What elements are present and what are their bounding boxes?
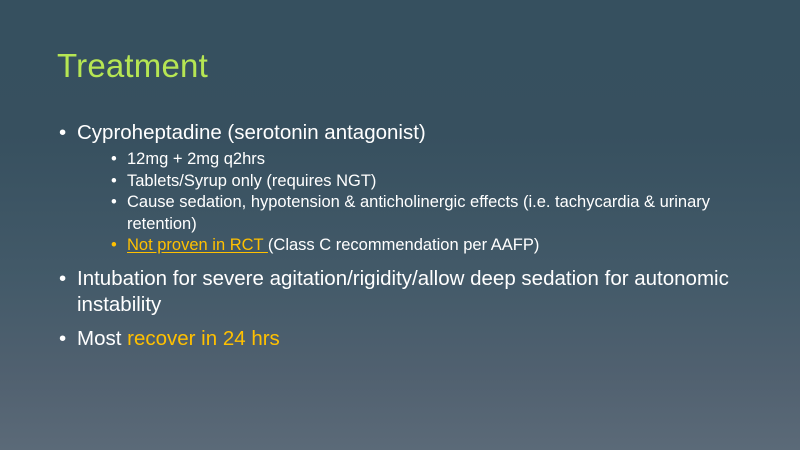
bullet-marker-icon: • bbox=[111, 149, 117, 171]
bullet-marker-icon: • bbox=[59, 266, 66, 292]
evidence-link[interactable]: Not proven in RCT bbox=[127, 236, 268, 254]
list-item-label: 12mg + 2mg q2hrs bbox=[127, 150, 265, 168]
bullet-marker-icon: • bbox=[59, 326, 66, 352]
bullet-list-level-1: • Cyproheptadine (serotonin antagonist) … bbox=[57, 120, 757, 352]
list-item-label: (Class C recommendation per AAFP) bbox=[268, 236, 539, 254]
bullet-marker-icon: • bbox=[59, 120, 66, 146]
list-item-intubation: • Intubation for severe agitation/rigidi… bbox=[57, 266, 757, 318]
bullet-marker-icon: • bbox=[111, 235, 117, 257]
list-item-label: Intubation for severe agitation/rigidity… bbox=[77, 267, 729, 316]
bullet-marker-icon: • bbox=[111, 171, 117, 193]
page-title: Treatment bbox=[57, 46, 208, 86]
list-item-dosing: • 12mg + 2mg q2hrs bbox=[110, 149, 757, 171]
list-item-label: Cause sedation, hypotension & anticholin… bbox=[127, 193, 710, 233]
list-item-evidence: • Not proven in RCT (Class C recommendat… bbox=[110, 235, 757, 257]
list-item-label: Cyproheptadine (serotonin antagonist) bbox=[77, 121, 426, 144]
recovery-highlight: recover in 24 hrs bbox=[127, 327, 280, 350]
list-item-label: Tablets/Syrup only (requires NGT) bbox=[127, 172, 376, 190]
bullet-marker-icon: • bbox=[111, 192, 117, 214]
slide-body: • Cyproheptadine (serotonin antagonist) … bbox=[57, 120, 757, 353]
list-item-label: Most bbox=[77, 327, 127, 350]
slide: Treatment • Cyproheptadine (serotonin an… bbox=[0, 0, 800, 450]
list-item-recovery: • Most recover in 24 hrs bbox=[57, 326, 757, 352]
list-item-cyproheptadine: • Cyproheptadine (serotonin antagonist) … bbox=[57, 120, 757, 257]
bullet-list-level-2: • 12mg + 2mg q2hrs • Tablets/Syrup only … bbox=[110, 149, 757, 257]
list-item-formulation: • Tablets/Syrup only (requires NGT) bbox=[110, 171, 757, 193]
list-item-side-effects: • Cause sedation, hypotension & antichol… bbox=[110, 192, 757, 235]
